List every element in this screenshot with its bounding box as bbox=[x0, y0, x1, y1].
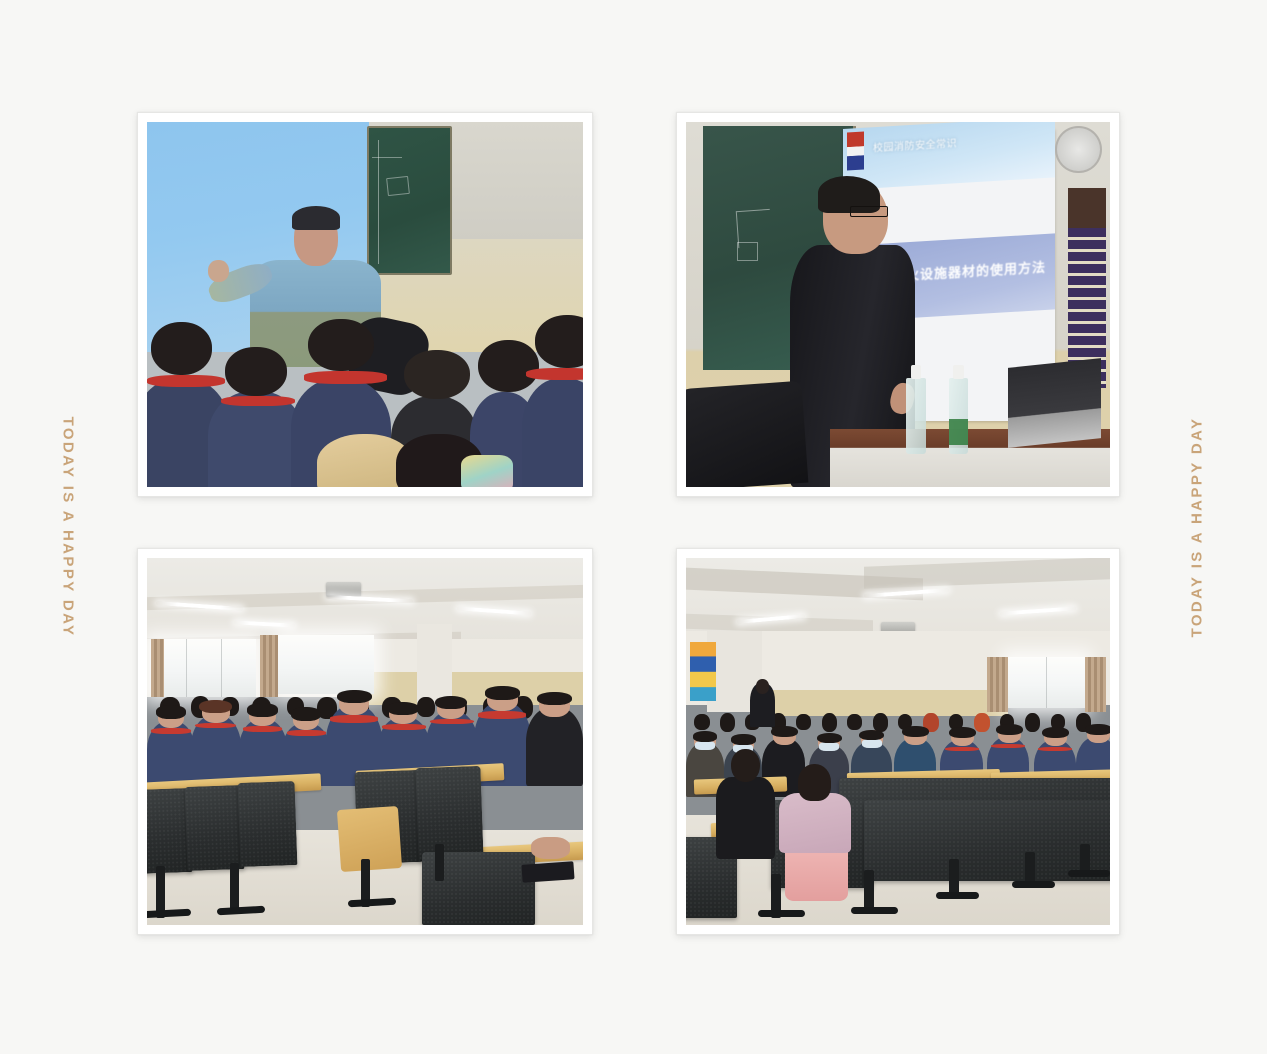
seat-foot bbox=[936, 892, 978, 899]
photo-frame-top-left[interactable] bbox=[137, 112, 593, 497]
student-head bbox=[308, 319, 373, 372]
chalk-mark bbox=[736, 208, 772, 247]
student-scarf bbox=[461, 455, 513, 487]
seat-leg bbox=[435, 844, 445, 881]
audience-hair bbox=[693, 731, 718, 741]
seat bbox=[185, 785, 245, 871]
wall-clock bbox=[1055, 126, 1102, 173]
standing-person-head bbox=[756, 679, 770, 694]
wall-poster bbox=[690, 642, 715, 701]
glasses-icon bbox=[850, 206, 888, 217]
audience-hair bbox=[817, 733, 842, 743]
seat-foot bbox=[758, 910, 805, 917]
seat-foot bbox=[1068, 870, 1110, 877]
foreground-person-pink-outfit bbox=[779, 764, 851, 896]
student-hair bbox=[337, 690, 372, 703]
photo-frame-bottom-right[interactable] bbox=[676, 548, 1120, 935]
student-collar bbox=[991, 744, 1025, 748]
student-head bbox=[151, 322, 212, 375]
seat bbox=[237, 781, 297, 867]
photo-speaker-at-podium: 校园消防安全常识 常见灭火设施器材的使用方法 bbox=[686, 122, 1110, 487]
student bbox=[526, 707, 583, 785]
student-collar bbox=[478, 711, 526, 719]
face-mask bbox=[862, 739, 882, 748]
collage-page: TODAY IS A HAPPY DAY TODAY IS A HAPPY DA… bbox=[0, 0, 1267, 1054]
student-collar bbox=[304, 371, 387, 383]
student-hair bbox=[949, 727, 976, 738]
student-hair bbox=[1042, 727, 1069, 738]
student-hair bbox=[996, 724, 1023, 735]
water-bottle bbox=[949, 378, 968, 455]
student-collar bbox=[147, 375, 225, 387]
student-hair bbox=[199, 700, 232, 713]
pink-trousers bbox=[785, 845, 848, 900]
student-head bbox=[404, 350, 469, 399]
student-hair bbox=[291, 707, 322, 720]
student-collar bbox=[382, 724, 426, 730]
slide-logo bbox=[847, 132, 864, 171]
seat bbox=[416, 766, 485, 860]
student-collar bbox=[243, 726, 282, 732]
student-head bbox=[478, 340, 539, 393]
student-hair bbox=[1085, 724, 1110, 735]
foreground-person-black-shirt bbox=[716, 749, 775, 859]
photo-projected-lecturer-and-students bbox=[147, 122, 583, 487]
notebook bbox=[521, 861, 574, 883]
student-hair bbox=[435, 696, 468, 709]
audience-hair bbox=[771, 726, 798, 737]
student-hair bbox=[387, 702, 420, 715]
face-mask bbox=[695, 741, 715, 750]
student-audience bbox=[147, 312, 583, 487]
photo-frame-top-right[interactable]: 校园消防安全常识 常见灭火设施器材的使用方法 bbox=[676, 112, 1120, 497]
chalk-mark bbox=[386, 176, 410, 196]
audience-hair bbox=[859, 730, 884, 740]
student-collar bbox=[330, 715, 378, 723]
student-collar bbox=[195, 723, 236, 729]
chalk-mark bbox=[372, 157, 403, 158]
student-collar bbox=[221, 396, 295, 407]
student-collar bbox=[526, 368, 583, 380]
student-collar bbox=[151, 728, 190, 734]
photo-lecture-hall-left-view bbox=[147, 558, 583, 925]
student bbox=[522, 378, 583, 487]
laptop bbox=[1008, 358, 1101, 448]
office-chair bbox=[686, 381, 808, 487]
black-shirt bbox=[716, 777, 775, 858]
photo-lecture-hall-wide-view bbox=[686, 558, 1110, 925]
student-collar bbox=[945, 747, 979, 751]
side-caption-left: TODAY IS A HAPPY DAY bbox=[60, 417, 77, 638]
student-hair bbox=[156, 705, 187, 718]
lecturer-hair bbox=[292, 206, 340, 230]
student-hair bbox=[485, 686, 520, 699]
lecturer-hand bbox=[208, 260, 229, 282]
person-head bbox=[731, 749, 759, 782]
chalk-mark bbox=[737, 242, 758, 260]
pink-jacket bbox=[779, 793, 851, 854]
student-collar bbox=[287, 730, 326, 736]
seat-foot bbox=[1012, 881, 1054, 888]
seat-row bbox=[864, 800, 1110, 881]
person-head bbox=[798, 764, 831, 801]
hand bbox=[531, 837, 570, 859]
audience-hair bbox=[902, 726, 929, 737]
student-hair bbox=[537, 692, 572, 705]
student-head bbox=[225, 347, 286, 396]
audience-hair bbox=[731, 734, 756, 744]
side-caption-right: TODAY IS A HAPPY DAY bbox=[1189, 417, 1206, 638]
student-hair bbox=[247, 703, 278, 716]
photo-frame-bottom-left[interactable] bbox=[137, 548, 593, 935]
face-mask bbox=[819, 742, 839, 751]
seat-foot bbox=[851, 907, 898, 914]
wall-speaker-box bbox=[1068, 188, 1106, 228]
water-bottle bbox=[906, 378, 925, 455]
student-head bbox=[535, 315, 583, 368]
